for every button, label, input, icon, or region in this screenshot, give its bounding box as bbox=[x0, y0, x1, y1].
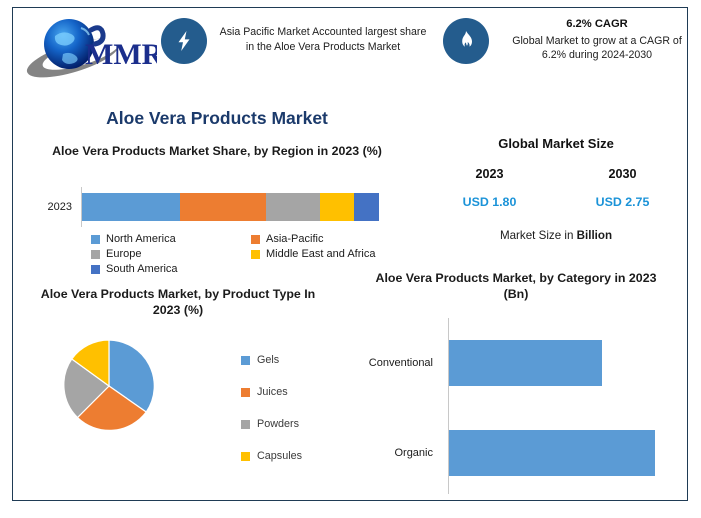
pie-legend-label-gels: Gels bbox=[257, 354, 279, 366]
category-row-organic: Organic bbox=[343, 430, 689, 476]
category-chart: Aloe Vera Products Market, by Category i… bbox=[343, 270, 689, 502]
region-share-category-label: 2023 bbox=[13, 201, 81, 213]
legend-item-middle-east-africa: Middle East and Africa bbox=[251, 248, 411, 260]
lightning-bolt-icon bbox=[161, 18, 207, 64]
region-segment-middle-east-africa bbox=[320, 193, 354, 221]
category-row-conventional: Conventional bbox=[343, 340, 689, 386]
region-segment-europe bbox=[266, 193, 320, 221]
pie-legend-swatch-capsules bbox=[241, 452, 250, 461]
svg-text:MMR: MMR bbox=[85, 38, 157, 71]
region-share-chart-title: Aloe Vera Products Market Share, by Regi… bbox=[13, 143, 421, 159]
category-chart-title: Aloe Vera Products Market, by Category i… bbox=[343, 270, 689, 303]
badge-cagr: 6.2% CAGR Global Market to grow at a CAG… bbox=[443, 16, 695, 64]
badge-asia-pacific-body: Asia Pacific Market Accounted largest sh… bbox=[220, 26, 427, 53]
region-share-stacked-bar bbox=[82, 193, 379, 221]
legend-swatch-asia-pacific bbox=[251, 235, 260, 244]
pie-legend-swatch-gels bbox=[241, 356, 250, 365]
infographic-frame: MMR Asia Pacific Market Accounted larges… bbox=[12, 7, 688, 501]
market-size-year-2023: 2023 bbox=[423, 167, 556, 181]
mmr-logo: MMR bbox=[21, 14, 157, 82]
category-label-organic: Organic bbox=[343, 447, 441, 459]
pie-slices bbox=[64, 340, 154, 430]
pie-legend-swatch-juices bbox=[241, 388, 250, 397]
region-segment-south-america bbox=[354, 193, 379, 221]
category-label-conventional: Conventional bbox=[343, 357, 441, 369]
product-type-legend: Gels Juices Powders Capsules bbox=[241, 344, 302, 472]
legend-item-south-america: South America bbox=[91, 263, 251, 275]
region-share-chart: Aloe Vera Products Market Share, by Regi… bbox=[13, 143, 421, 278]
badge-asia-pacific-text: Asia Pacific Market Accounted largest sh… bbox=[217, 25, 429, 54]
header: MMR Asia Pacific Market Accounted larges… bbox=[13, 8, 687, 90]
legend-swatch-north-america bbox=[91, 235, 100, 244]
product-type-chart-title: Aloe Vera Products Market, by Product Ty… bbox=[13, 286, 343, 319]
pie-legend-label-powders: Powders bbox=[257, 418, 299, 430]
product-type-pie bbox=[61, 338, 157, 434]
global-market-size-heading: Global Market Size bbox=[423, 136, 689, 151]
region-segment-north-america bbox=[82, 193, 179, 221]
legend-item-europe: Europe bbox=[91, 248, 251, 260]
global-market-size-grid: 2023 USD 1.80 2030 USD 2.75 bbox=[423, 167, 689, 209]
region-segment-asia-pacific bbox=[180, 193, 266, 221]
legend-swatch-europe bbox=[91, 250, 100, 259]
market-size-year-2030: 2030 bbox=[556, 167, 689, 181]
pie-legend-swatch-powders bbox=[241, 420, 250, 429]
legend-label-middle-east-africa: Middle East and Africa bbox=[266, 248, 375, 260]
legend-label-asia-pacific: Asia-Pacific bbox=[266, 233, 323, 245]
market-size-footer: Market Size in Billion bbox=[423, 229, 689, 242]
category-plot: Conventional Organic bbox=[343, 318, 689, 494]
product-type-chart: Aloe Vera Products Market, by Product Ty… bbox=[13, 286, 343, 502]
pie-legend-label-juices: Juices bbox=[257, 386, 288, 398]
market-size-column-2030: 2030 USD 2.75 bbox=[556, 167, 689, 209]
market-size-value-2030: USD 2.75 bbox=[556, 195, 689, 209]
page-title: Aloe Vera Products Market bbox=[13, 108, 421, 129]
legend-swatch-middle-east-africa bbox=[251, 250, 260, 259]
legend-label-south-america: South America bbox=[106, 263, 178, 275]
market-size-column-2023: 2023 USD 1.80 bbox=[423, 167, 556, 209]
badge-cagr-body: Global Market to grow at a CAGR of 6.2% … bbox=[512, 35, 682, 62]
market-size-footer-unit: Billion bbox=[577, 229, 612, 242]
badge-cagr-title: 6.2% CAGR bbox=[499, 17, 695, 32]
badge-asia-pacific: Asia Pacific Market Accounted largest sh… bbox=[161, 16, 429, 64]
legend-label-europe: Europe bbox=[106, 248, 141, 260]
legend-item-north-america: North America bbox=[91, 233, 251, 245]
pie-legend-label-capsules: Capsules bbox=[257, 450, 302, 462]
legend-item-asia-pacific: Asia-Pacific bbox=[251, 233, 411, 245]
legend-swatch-south-america bbox=[91, 265, 100, 274]
pie-legend-item-capsules: Capsules bbox=[241, 440, 302, 472]
pie-legend-item-gels: Gels bbox=[241, 344, 302, 376]
legend-label-north-america: North America bbox=[106, 233, 176, 245]
category-bar-conventional bbox=[449, 340, 602, 386]
market-size-value-2023: USD 1.80 bbox=[423, 195, 556, 209]
pie-legend-item-juices: Juices bbox=[241, 376, 302, 408]
category-bar-organic bbox=[449, 430, 655, 476]
badge-cagr-text: 6.2% CAGR Global Market to grow at a CAG… bbox=[499, 17, 695, 63]
global-market-size-panel: Global Market Size 2023 USD 1.80 2030 US… bbox=[423, 136, 689, 242]
pie-legend-item-powders: Powders bbox=[241, 408, 302, 440]
flame-icon bbox=[443, 18, 489, 64]
market-size-footer-prefix: Market Size in bbox=[500, 229, 577, 242]
region-share-plot: 2023 bbox=[13, 187, 421, 227]
